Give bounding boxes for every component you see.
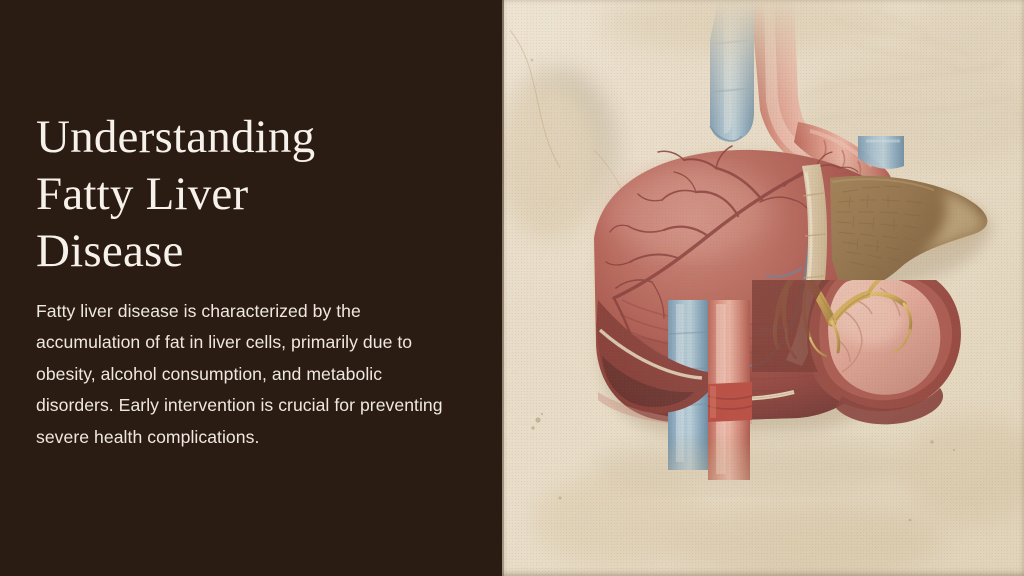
inferior-vena-cava-vein <box>710 0 754 142</box>
slide-root: Understanding Fatty Liver Disease Fatty … <box>0 0 1024 576</box>
liver-illustration-panel <box>502 0 1024 576</box>
organ-ground-shadow <box>592 440 912 492</box>
page-title: Understanding Fatty Liver Disease <box>36 109 456 280</box>
body-paragraph: Fatty liver disease is characterized by … <box>36 296 444 454</box>
liver-anatomy-svg <box>502 0 1024 576</box>
text-panel: Understanding Fatty Liver Disease Fatty … <box>0 0 502 576</box>
